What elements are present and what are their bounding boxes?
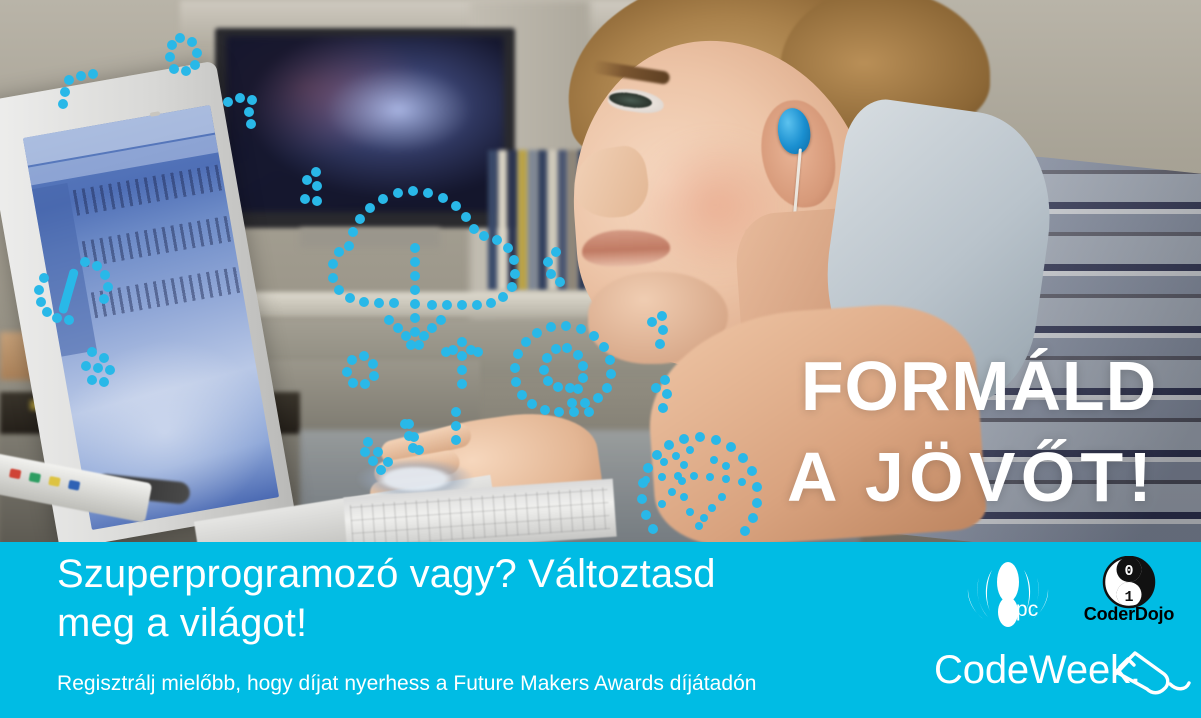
logo-group: upc 0 1 CoderDojo CodeWeek. <box>930 548 1192 712</box>
headline-line-2: A JÖVŐT! <box>787 443 1157 512</box>
footer-text-block: Szuperprogramozó vagy? Változtasd meg a … <box>57 550 877 696</box>
footer-heading-line-2: meg a világot! <box>57 599 877 648</box>
codeweek-usb-icon <box>930 644 1192 700</box>
footer-heading-line-1: Szuperprogramozó vagy? Változtasd <box>57 550 877 599</box>
promo-banner: FORMÁLD A JÖVŐT! Szuperprogramozó vagy? … <box>0 0 1201 718</box>
footer-subtitle: Regisztrálj mielőbb, hogy díjat nyerhess… <box>57 672 877 696</box>
footer-band: Szuperprogramozó vagy? Változtasd meg a … <box>0 542 1201 718</box>
svg-text:0: 0 <box>1124 563 1133 580</box>
headline: FORMÁLD A JÖVŐT! <box>787 352 1157 511</box>
headline-line-1: FORMÁLD <box>787 352 1157 421</box>
upc-wordmark: upc <box>1004 598 1039 622</box>
hero-photo: FORMÁLD A JÖVŐT! <box>0 0 1201 545</box>
tv-stand <box>300 228 440 248</box>
tv-screen <box>226 36 504 212</box>
coderdojo-wordmark: CoderDojo <box>1076 604 1182 625</box>
